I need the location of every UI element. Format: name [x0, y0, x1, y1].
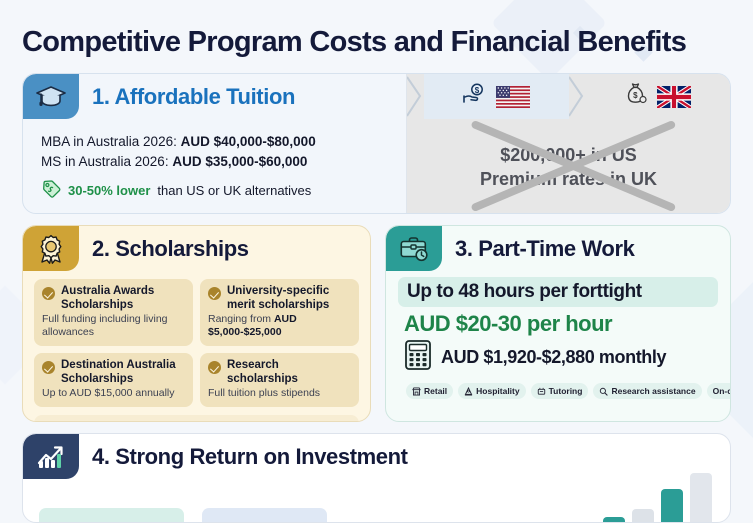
- growth-chart-icon: [23, 434, 79, 479]
- part-time-monthly: AUD $1,920-$2,880 monthly: [441, 347, 666, 368]
- part-time-title: 3. Part-Time Work: [442, 226, 634, 271]
- price-tag-icon: [41, 180, 61, 201]
- calculator-icon: [404, 339, 432, 376]
- tuition-comparison-panel: $: [406, 74, 730, 213]
- check-circle-icon: [42, 361, 55, 374]
- job-tag-label: Research assistance: [611, 386, 695, 396]
- roi-bar: [632, 509, 654, 522]
- tuition-savings-highlight: 30-50% lower: [68, 183, 150, 198]
- tuition-row-ms-label: MS in Australia 2026:: [41, 154, 169, 169]
- scholarships-footer-note: Merit-based scholarships can cover 25-10…: [34, 415, 359, 422]
- job-tag: On-campus jobs: [707, 383, 731, 399]
- tuition-left-panel: 1. Affordable Tuition MBA in Australia 2…: [23, 74, 406, 213]
- scholarship-card-head: Research scholarships: [208, 359, 351, 386]
- roi-bar: [690, 473, 712, 522]
- scholarship-desc: Full funding including living allowances: [42, 313, 185, 339]
- tuition-row-mba: MBA in Australia 2026: AUD $40,000-$80,0…: [41, 132, 406, 152]
- scholarship-card-head: Australia Awards Scholarships: [42, 285, 185, 312]
- comparison-header: $: [407, 74, 730, 119]
- scholarship-card: Research scholarships Full tuition plus …: [200, 353, 359, 407]
- scholarship-name: University-specific merit scholarships: [227, 285, 351, 312]
- roi-bar: [661, 489, 683, 522]
- job-tag-label: Retail: [424, 386, 447, 396]
- part-time-body: Up to 48 hours per forttight AUD $20-30 …: [386, 271, 730, 399]
- tuition-row-mba-label: MBA in Australia 2026:: [41, 134, 177, 149]
- scholarship-desc: Full tuition plus stipends: [208, 387, 351, 400]
- briefcase-clock-icon: [386, 226, 442, 271]
- scholarship-card: University-specific merit scholarships R…: [200, 279, 359, 346]
- scholarship-name: Destination Australia Scholarships: [61, 359, 185, 386]
- scholarship-desc-text: Full funding including living allowances: [42, 313, 168, 338]
- job-tag: Tutoring: [531, 383, 589, 399]
- tuition-row-ms: MS in Australia 2026: AUD $35,000-$60,00…: [41, 152, 406, 172]
- roi-bar-chart: [603, 464, 712, 522]
- teaching-icon: [537, 387, 546, 396]
- tuition-header: 1. Affordable Tuition: [23, 74, 406, 119]
- roi-partial-chips: [39, 508, 327, 522]
- scholarship-desc: Ranging from AUD $5,000-$25,000: [208, 313, 351, 339]
- job-tag: Hospitality: [458, 383, 525, 399]
- tuition-row-ms-value: AUD $35,000-$60,000: [172, 154, 307, 169]
- check-circle-icon: [208, 287, 221, 300]
- roi-chip-blue: [202, 508, 327, 522]
- tuition-title: 1. Affordable Tuition: [79, 74, 295, 119]
- scholarship-desc-text: Ranging from: [208, 313, 274, 325]
- check-circle-icon: [208, 361, 221, 374]
- scholarships-header: 2. Scholarships: [23, 226, 370, 271]
- scholarships-title: 2. Scholarships: [79, 226, 249, 271]
- hand-coin-icon: $: [463, 83, 487, 110]
- job-tag-label: Hospitality: [476, 386, 519, 396]
- tuition-row-mba-value: AUD $40,000-$80,000: [181, 134, 316, 149]
- scholarship-desc: Up to AUD $15,000 annually: [42, 387, 185, 400]
- roi-chip-teal: [39, 508, 184, 522]
- scholarship-card-head: Destination Australia Scholarships: [42, 359, 185, 386]
- money-bag-icon: $: [624, 82, 648, 111]
- us-flag-icon: [496, 86, 530, 108]
- comparison-cell-us: $: [424, 74, 569, 119]
- scholarships-footer-bold: 25-100% of tuition fees: [225, 421, 344, 422]
- page-title: Competitive Program Costs and Financial …: [22, 0, 731, 73]
- middle-row: 2. Scholarships Australia Awards Scholar…: [22, 225, 731, 422]
- job-tag: Research assistance: [593, 383, 701, 399]
- scholarship-desc-text: Up to AUD $15,000 annually: [42, 387, 175, 399]
- roi-title: 4. Strong Return on Investment: [79, 434, 408, 479]
- svg-text:$: $: [475, 86, 480, 95]
- section-part-time-work: 3. Part-Time Work Up to 48 hours per for…: [385, 225, 731, 422]
- part-time-job-tags: Retail Hospitality: [398, 376, 718, 399]
- scholarship-cards-grid: Australia Awards Scholarships Full fundi…: [23, 271, 370, 407]
- store-icon: [412, 387, 421, 396]
- part-time-monthly-row: AUD $1,920-$2,880 monthly: [398, 339, 718, 376]
- chef-icon: [464, 387, 473, 396]
- chevron-separator-2: [569, 74, 586, 119]
- crossed-line-2: Premium rates in UK: [480, 169, 657, 190]
- section-affordable-tuition: 1. Affordable Tuition MBA in Australia 2…: [22, 73, 731, 214]
- scholarship-name: Research scholarships: [227, 359, 351, 386]
- chevron-separator-1: [407, 74, 424, 119]
- part-time-rate: AUD $20-30 per hour: [398, 307, 718, 339]
- job-tag: Retail: [406, 383, 453, 399]
- tuition-body: MBA in Australia 2026: AUD $40,000-$80,0…: [23, 119, 406, 201]
- part-time-hours: Up to 48 hours per forttight: [398, 277, 718, 307]
- roi-bar: [603, 517, 625, 522]
- section-scholarships: 2. Scholarships Australia Awards Scholar…: [22, 225, 371, 422]
- job-tag-label: On-campus jobs: [713, 386, 731, 396]
- section-return-on-investment: 4. Strong Return on Investment: [22, 433, 731, 523]
- scholarships-footer-pre: Merit-based scholarships can cover: [49, 421, 225, 422]
- magnifier-icon: [599, 387, 608, 396]
- comparison-crossed-out: $200,000+ in US Premium rates in UK: [407, 119, 730, 214]
- scholarship-card: Australia Awards Scholarships Full fundi…: [34, 279, 193, 346]
- tuition-savings-row: 30-50% lower than US or UK alternatives: [41, 180, 406, 201]
- check-circle-icon: [42, 287, 55, 300]
- award-ribbon-icon: [23, 226, 79, 271]
- scholarship-card: Destination Australia Scholarships Up to…: [34, 353, 193, 407]
- scholarship-card-head: University-specific merit scholarships: [208, 285, 351, 312]
- part-time-header: 3. Part-Time Work: [386, 226, 730, 271]
- svg-text:$: $: [633, 91, 638, 100]
- scholarship-name: Australia Awards Scholarships: [61, 285, 185, 312]
- cross-out-x-icon: [407, 119, 730, 213]
- tuition-savings-rest: than US or UK alternatives: [157, 183, 311, 198]
- scholarship-desc-text: Full tuition plus stipends: [208, 387, 320, 399]
- comparison-cell-uk: $: [586, 74, 731, 119]
- crossed-line-1: $200,000+ in US: [500, 145, 637, 166]
- uk-flag-icon: [657, 86, 691, 108]
- graduation-cap-icon: [23, 74, 79, 119]
- infographic-page: Competitive Program Costs and Financial …: [0, 0, 753, 505]
- job-tag-label: Tutoring: [549, 386, 583, 396]
